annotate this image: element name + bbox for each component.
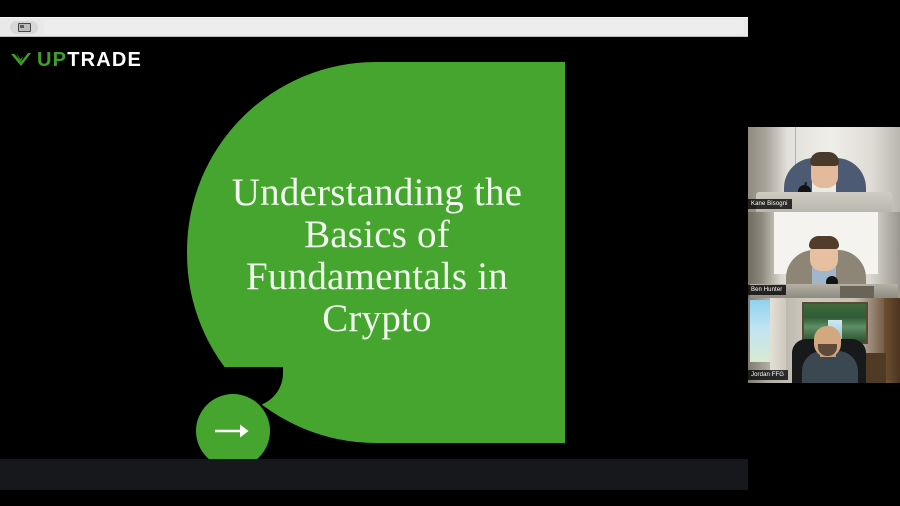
desk-object	[840, 286, 874, 298]
monitor-screen-icon	[18, 23, 31, 32]
participant-name-label: Ben Hunter	[748, 285, 786, 295]
logo-text-trade: TRADE	[67, 49, 142, 71]
meeting-control-bar[interactable]	[0, 459, 748, 490]
presentation-slide: UPTRADE Understanding the Basics of Fund…	[0, 38, 748, 459]
video-tile-kane-bisogni[interactable]: Kane Bisogni	[748, 127, 900, 212]
next-slide-arrow-button[interactable]	[206, 419, 260, 443]
wooden-door	[884, 298, 900, 380]
slide-title: Understanding the Basics of Fundamentals…	[207, 172, 547, 340]
logo-wordmark: UPTRADE	[37, 50, 142, 70]
address-bar-input[interactable]	[44, 20, 744, 34]
arrow-right-icon	[213, 422, 253, 440]
participant-hair	[810, 152, 839, 166]
slide-title-line-1: Understanding the	[207, 172, 547, 214]
green-blob-shape: Understanding the Basics of Fundamentals…	[187, 62, 565, 443]
uptrade-logo: UPTRADE	[10, 49, 142, 71]
participant-name-label: Kane Bisogni	[748, 199, 792, 209]
logo-text-up: UP	[37, 49, 67, 71]
slide-title-line-2: Basics of	[207, 214, 547, 256]
participant-name-label: Jordan FFG	[748, 370, 788, 380]
meeting-screen-share-view: UPTRADE Understanding the Basics of Fund…	[0, 0, 900, 506]
video-tile-jordan-ffg[interactable]: Jordan FFG	[748, 298, 900, 383]
participant-video-rail: Kane Bisogni Ben Hunter	[748, 127, 900, 383]
video-tile-ben-hunter[interactable]: Ben Hunter	[748, 212, 900, 297]
curtain	[770, 298, 786, 376]
shared-window-toolbar	[0, 17, 748, 37]
toolbar-tab-button[interactable]	[10, 21, 38, 34]
chevron-down-leaf-icon	[10, 51, 32, 69]
participant-hair	[809, 236, 839, 249]
slide-title-line-4: Crypto	[207, 298, 547, 340]
slide-title-line-3: Fundamentals in	[207, 256, 547, 298]
